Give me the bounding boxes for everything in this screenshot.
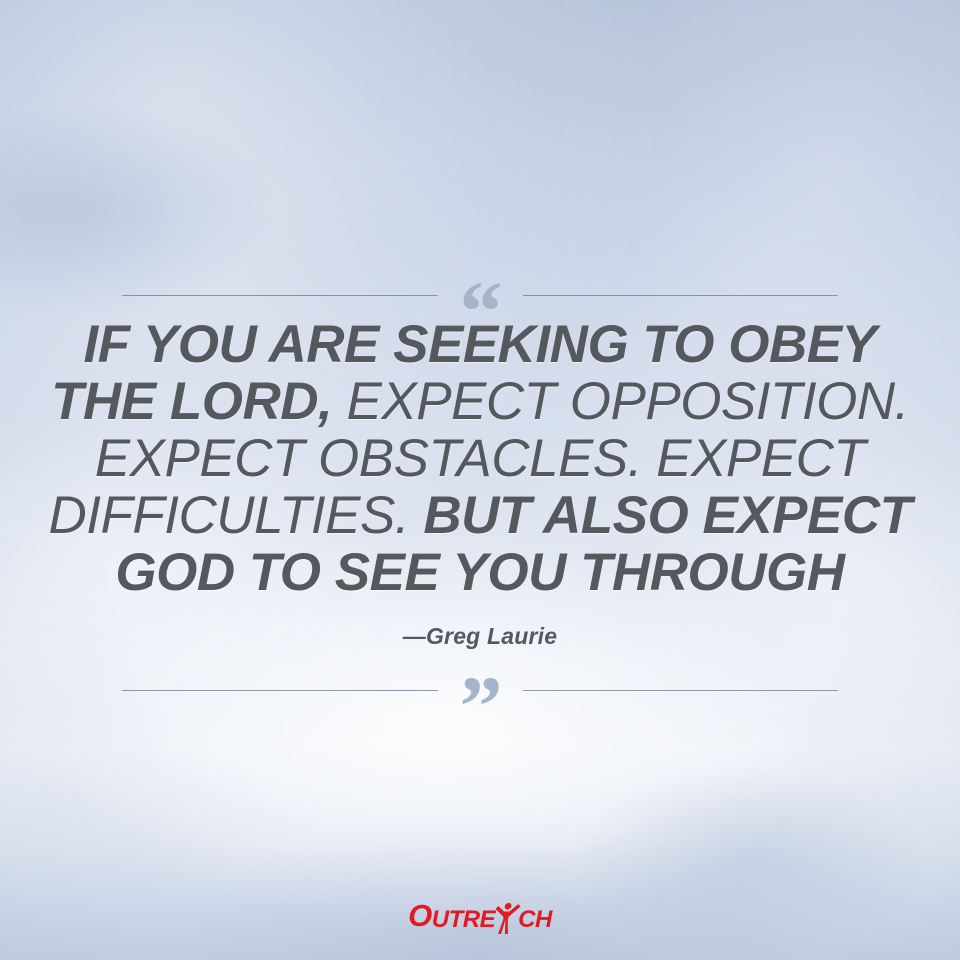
quote-line-2-bold: THE LORD, [51, 372, 332, 431]
divider-top-line-left [122, 295, 438, 296]
poster-content: “ IF YOU ARE SEEKING TO OBEY THE LORD, E… [0, 0, 960, 960]
divider-bottom-line-left [122, 690, 438, 691]
outreach-wordmark: O UTRE CH [408, 898, 552, 934]
divider-top-line-right [523, 295, 839, 296]
quote-line-4-bold: BUT ALSO EXPECT [423, 486, 911, 545]
brand-letter-o: O [408, 898, 432, 934]
quote-line-3: EXPECT OBSTACLES. EXPECT [95, 429, 865, 488]
quote-attribution: —Greg Laurie [0, 623, 960, 650]
quote-poster: “ IF YOU ARE SEEKING TO OBEY THE LORD, E… [0, 0, 960, 960]
brand-letters-ch: CH [518, 906, 552, 934]
quote-line-5: GOD TO SEE YOU THROUGH [115, 543, 844, 602]
brand-logo: O UTRE CH [0, 898, 960, 934]
quote-text: IF YOU ARE SEEKING TO OBEY THE LORD, EXP… [48, 316, 912, 601]
brand-letters-utre: UTRE [432, 906, 495, 934]
quote-line-1: IF YOU ARE SEEKING TO OBEY [84, 315, 877, 374]
divider-bottom: ” [122, 670, 838, 710]
quote-line-4-regular: DIFFICULTIES. [48, 486, 423, 545]
divider-bottom-line-right [523, 690, 839, 691]
divider-top: “ [122, 275, 838, 315]
quote-line-2-regular: EXPECT OPPOSITION. [332, 372, 909, 431]
